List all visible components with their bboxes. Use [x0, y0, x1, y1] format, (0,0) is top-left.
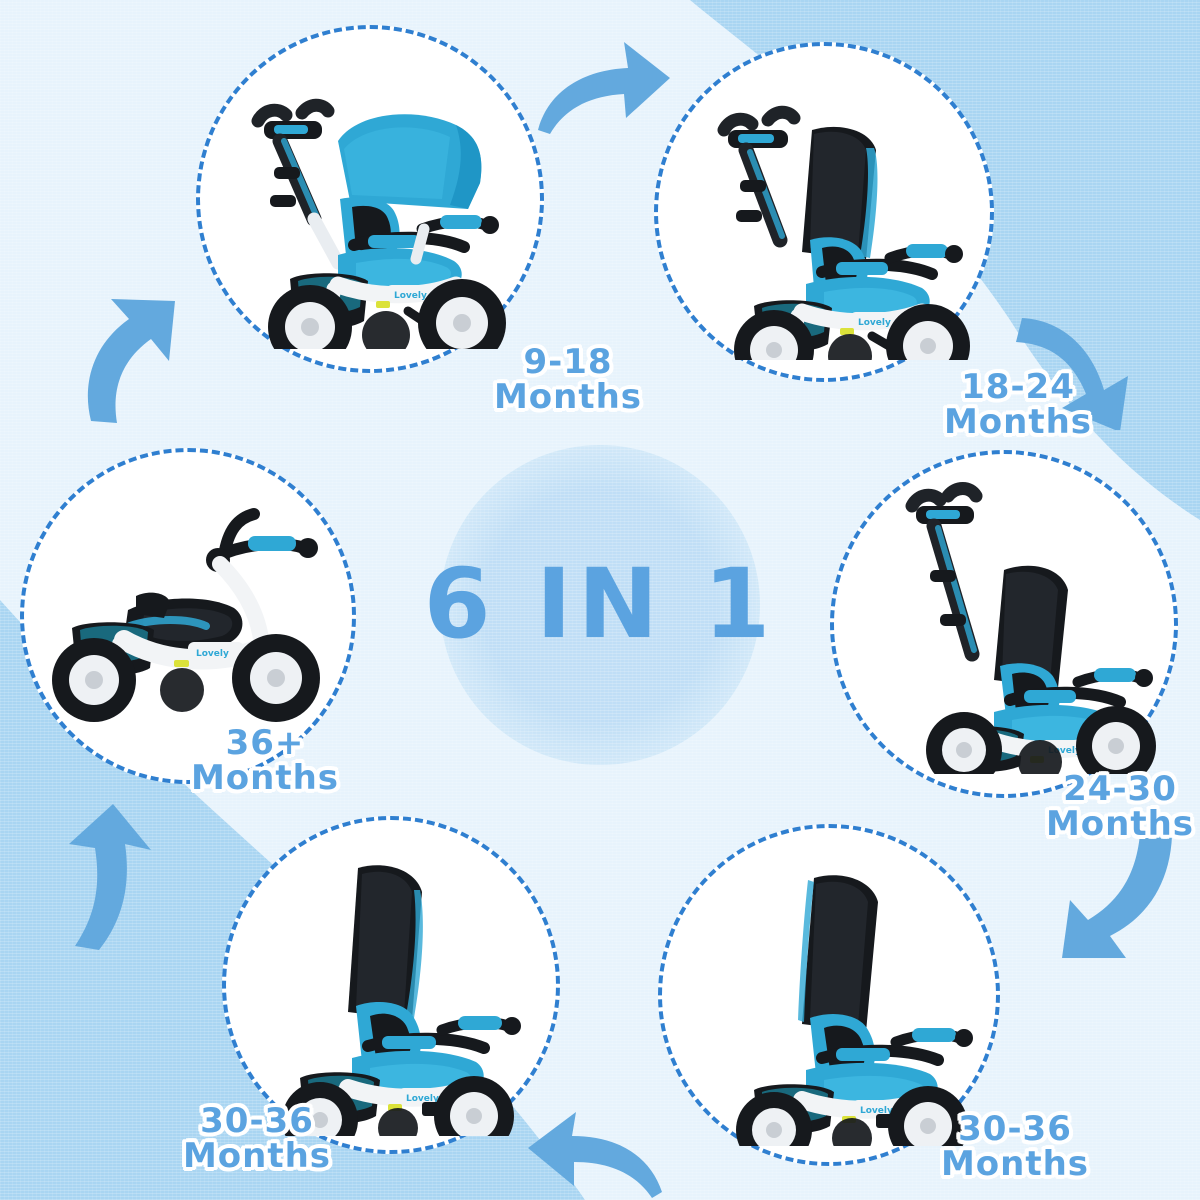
stage-card-9-18[interactable]: Lovely 9-18 Months	[196, 25, 544, 373]
stage-label-30-36-left: 30-36 Months	[142, 1104, 372, 1173]
tricycle-high-back-icon: Lovely	[684, 68, 974, 360]
stage-label-24-30: 24-30 Months	[1000, 772, 1200, 841]
stage-label-9-18: 9-18 Months	[458, 345, 678, 414]
stage-label-18-24: 18-24 Months	[908, 370, 1128, 439]
flow-arrow-up-right	[55, 285, 195, 430]
stage-card-18-24[interactable]: Lovely 18-24 Months	[654, 42, 994, 382]
tricycle-guided-icon: Lovely	[686, 846, 982, 1146]
tricycle-learner-icon: Lovely	[252, 840, 540, 1136]
poster-canvas: Lovely 9-18 Months	[0, 0, 1200, 1200]
stage-card-30-36-left[interactable]: Lovely 30-36 Months	[222, 816, 560, 1154]
flow-arrow-up	[45, 800, 185, 960]
svg-text:Lovely: Lovely	[858, 318, 891, 328]
center-title: 6 IN 1	[0, 548, 1200, 660]
stage-label-36-plus: 36+ Months	[150, 726, 380, 795]
svg-text:Lovely: Lovely	[394, 291, 427, 301]
tricycle-with-canopy-icon: Lovely	[218, 49, 522, 349]
stage-card-30-36-right[interactable]: Lovely 30-36 Months	[658, 824, 1000, 1166]
stage-label-30-36-right: 30-36 Months	[900, 1112, 1130, 1181]
